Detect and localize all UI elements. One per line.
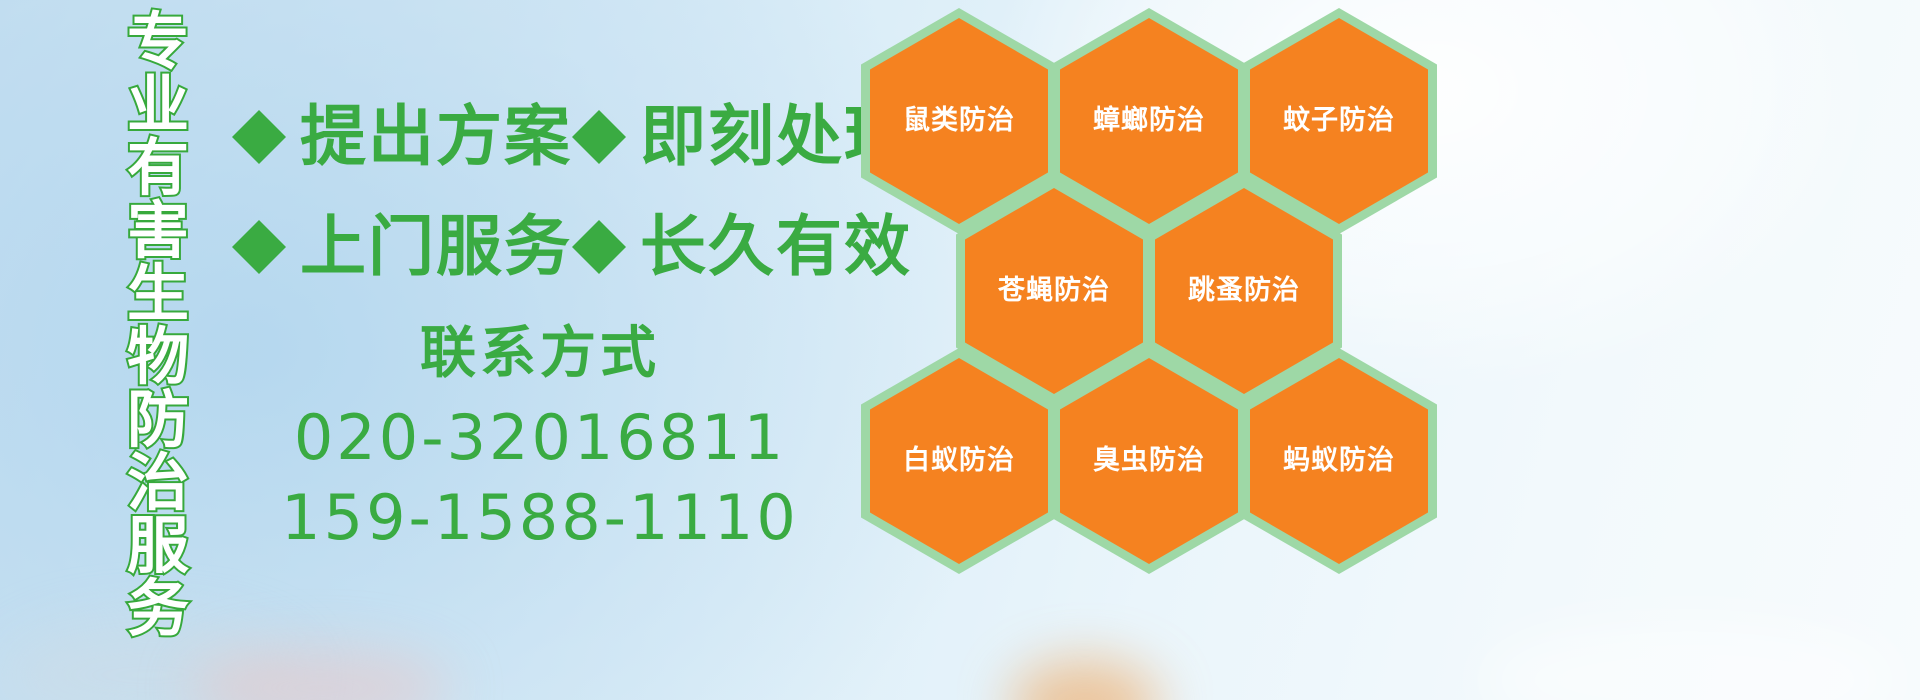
- diamond-icon: [232, 83, 286, 137]
- service-label: 蚂蚁防治: [1283, 446, 1395, 476]
- service-hex-fill: 跳蚤防治: [1155, 188, 1333, 394]
- service-hex-fill: 鼠类防治: [870, 18, 1048, 224]
- feature-row: 上门服务 长久有效: [232, 192, 872, 302]
- background-blur-white: [1480, 620, 1900, 700]
- service-hex-fill: 苍蝇防治: [965, 188, 1143, 394]
- service-hex-fill: 白蚁防治: [870, 358, 1048, 564]
- contact-block: 联系方式 020-32016811 159-1588-1110: [260, 318, 820, 558]
- phone-landline[interactable]: 020-32016811: [260, 398, 820, 478]
- vertical-headline-char: 业: [127, 73, 189, 136]
- service-label: 跳蚤防治: [1188, 276, 1300, 306]
- service-hexagon-grid: 鼠类防治 蟑螂防治 蚊子防治 苍蝇防治 跳蚤防治 白蚁防治: [855, 0, 1495, 580]
- feature-list: 提出方案 即刻处理 上门服务 长久有效: [232, 82, 872, 302]
- vertical-headline-char: 物: [127, 325, 189, 388]
- diamond-icon: [232, 193, 286, 247]
- service-hex-fill: 蟑螂防治: [1060, 18, 1238, 224]
- diamond-icon: [572, 83, 626, 137]
- contact-heading: 联系方式: [260, 318, 820, 390]
- service-label: 臭虫防治: [1093, 446, 1205, 476]
- service-hex-fill: 蚊子防治: [1250, 18, 1428, 224]
- vertical-headline-char: 害: [127, 199, 189, 262]
- service-label: 苍蝇防治: [998, 276, 1110, 306]
- vertical-headline-char: 治: [127, 451, 189, 514]
- feature-item-propose-plan: 提出方案: [232, 102, 572, 172]
- feature-row: 提出方案 即刻处理: [232, 82, 872, 192]
- vertical-headline-char: 防: [127, 388, 189, 451]
- service-label: 蚊子防治: [1283, 106, 1395, 136]
- service-label: 鼠类防治: [903, 106, 1015, 136]
- vertical-headline-char: 务: [127, 577, 189, 640]
- background-blur-pink: [190, 648, 450, 700]
- banner-canvas: 专 业 有 害 生 物 防 治 服 务 提出方案 即刻处理 上门服务: [0, 0, 1920, 700]
- feature-label: 提出方案: [300, 102, 572, 172]
- vertical-headline-char: 有: [127, 136, 189, 199]
- service-hex-fill: 臭虫防治: [1060, 358, 1238, 564]
- diamond-icon: [572, 193, 626, 247]
- service-label: 白蚁防治: [903, 446, 1015, 476]
- feature-item-door-to-door-service: 上门服务: [232, 212, 572, 282]
- service-hex-fill: 蚂蚁防治: [1250, 358, 1428, 564]
- vertical-headline-char: 专: [127, 10, 189, 73]
- vertical-headline-char: 生: [127, 262, 189, 325]
- phone-mobile[interactable]: 159-1588-1110: [260, 478, 820, 558]
- vertical-headline-char: 服: [127, 514, 189, 577]
- vertical-headline: 专 业 有 害 生 物 防 治 服 务: [112, 10, 204, 640]
- service-label: 蟑螂防治: [1093, 106, 1205, 136]
- feature-label: 上门服务: [300, 212, 572, 282]
- background-blur-orange: [1010, 660, 1160, 700]
